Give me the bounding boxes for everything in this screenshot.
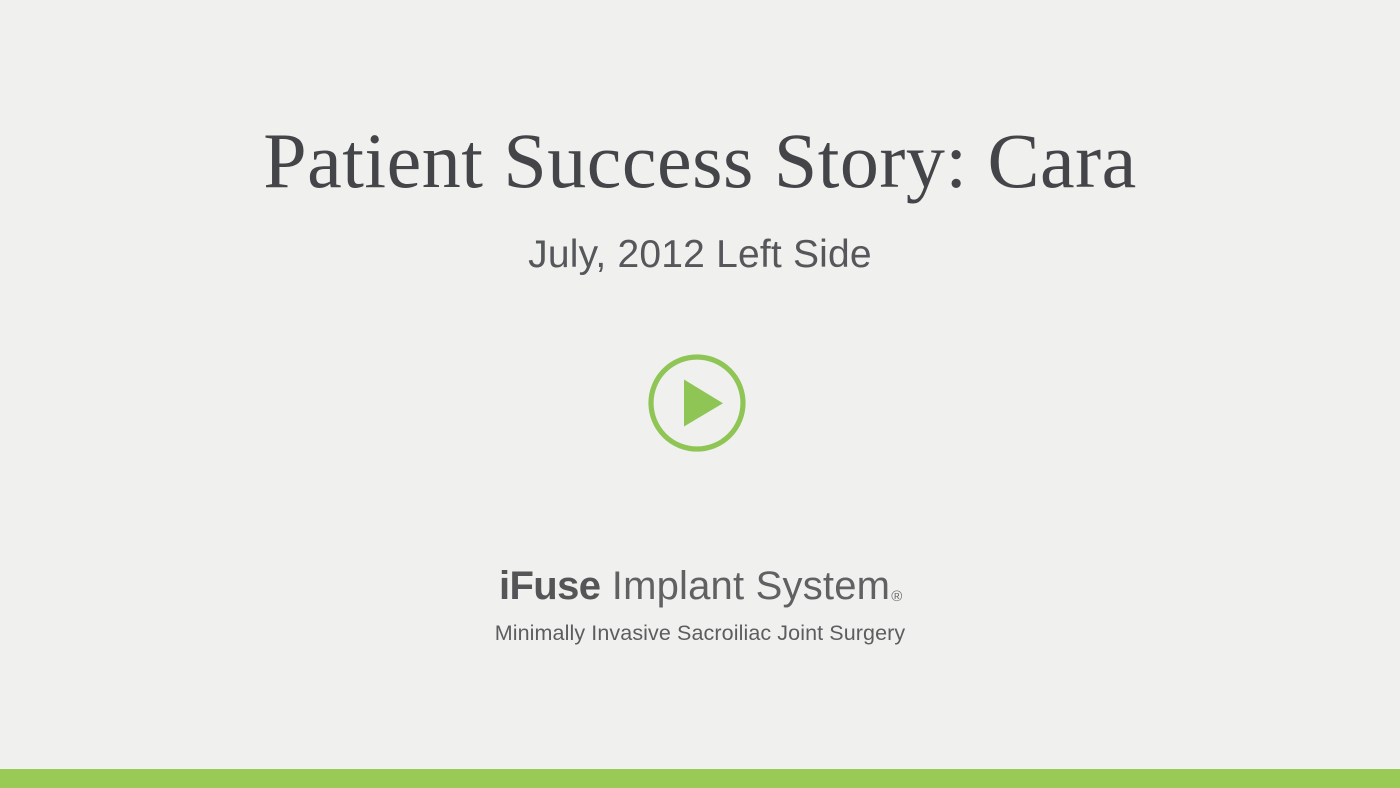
footer-accent-bar	[0, 769, 1400, 788]
logo-product-text	[600, 564, 611, 608]
title-block: Patient Success Story: Cara July, 2012 L…	[0, 122, 1400, 274]
play-video-button[interactable]	[648, 354, 746, 452]
logo-product-name: Implant System	[612, 564, 890, 608]
play-circle-icon	[648, 354, 746, 452]
page-title: Patient Success Story: Cara	[0, 122, 1400, 200]
logo-wordmark: iFuse Implant System®	[0, 566, 1400, 606]
ifuse-logo: iFuse Implant System® Minimally Invasive…	[0, 566, 1400, 645]
play-triangle-icon	[684, 380, 723, 427]
logo-brand-text: iFuse	[499, 564, 600, 608]
logo-tagline: Minimally Invasive Sacroiliac Joint Surg…	[0, 606, 1400, 645]
presentation-slide: Patient Success Story: Cara July, 2012 L…	[0, 0, 1400, 788]
page-subtitle: July, 2012 Left Side	[0, 200, 1400, 274]
registered-trademark-icon: ®	[891, 588, 902, 605]
